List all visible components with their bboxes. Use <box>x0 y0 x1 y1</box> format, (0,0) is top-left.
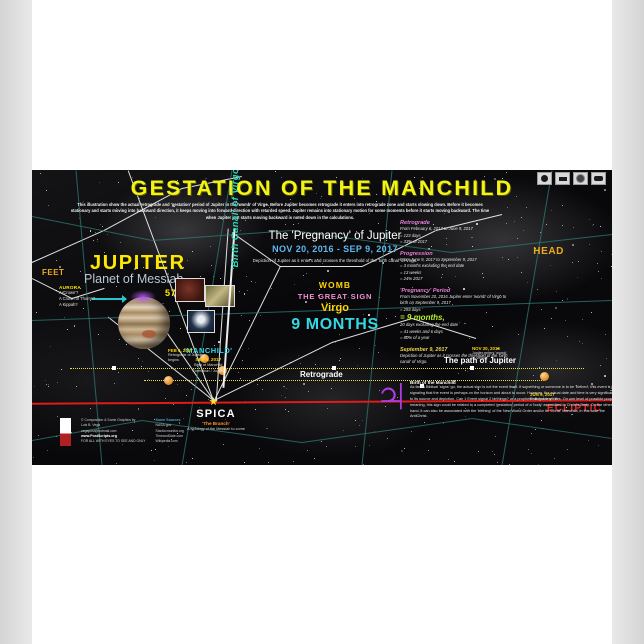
info-block-progression: Progression From June 9, 2017 to Septemb… <box>400 251 512 283</box>
path-note-nov20: NOV 20, 2016 Jupiter enters 'womb' of Vi… <box>472 346 507 362</box>
great-sign-label: THE GREAT SIGN <box>260 292 410 301</box>
poster-intro-text: This illustration show the actual retrog… <box>70 202 490 221</box>
birth-body: As far as Biblical 'signs' go, the actua… <box>410 385 612 420</box>
birth-of-manchild-block: Birth of the Manchild As far as Biblical… <box>410 380 612 420</box>
poster-title: GESTATION OF THE MANCHILD <box>32 176 612 201</box>
info-block-retrograde: Retrograde From February 6, 2017 to June… <box>400 220 512 246</box>
retrograde-path-label: Retrograde <box>300 370 343 379</box>
poster-artwork: ECLIPTIC Retrograde The path of Jupiter … <box>32 170 612 465</box>
credits-author-column: © Composition & Some Graphics by Luis B.… <box>81 418 146 446</box>
manchild-text: Birth of Manchild Formation / Jupiter <box>184 363 233 374</box>
info-lines: From February 6, 2017 to June 9, 2017 = … <box>400 226 512 246</box>
info-lines: From June 9, 2017 to September 9, 2017 =… <box>400 257 512 283</box>
path-marker <box>112 366 116 370</box>
info-tail: = 41 weeks and 6 days = 80% of a year <box>400 329 512 342</box>
circle-icon[interactable] <box>537 172 552 185</box>
credits-block: © Composition & Some Graphics by Luis B.… <box>60 418 184 446</box>
head-label: HEAD <box>533 246 564 257</box>
path-note-feb6: FEB 6, 2017 Retrograde of Jupiter begins <box>168 348 203 364</box>
info-block-pregnancy-period: 'Pregnancy' Period From November 20, 201… <box>400 288 512 342</box>
great-red-spot <box>142 330 156 338</box>
nine-months-label: 9 MONTHS <box>260 316 410 334</box>
pregnancy-heading: The 'Pregnancy' of Jupiter <box>250 230 420 242</box>
poster-page: ECLIPTIC Retrograde The path of Jupiter … <box>0 0 644 644</box>
icon-strip <box>537 172 606 185</box>
page-gutter-left <box>0 0 32 644</box>
rectangle-icon[interactable] <box>555 172 570 185</box>
sources-list: NASA.gov StarArcmonitor.org TimeandDate.… <box>156 423 184 444</box>
aurora-callout: AURORA A 'Crown'? A Crown of Thorns? A K… <box>59 285 109 308</box>
path-note-text: Jupiter enters 'womb' of Virgo <box>472 351 507 362</box>
jupiter-astrological-glyph-icon: ♃ <box>372 370 411 422</box>
crown-photo <box>175 278 205 302</box>
aurora-glow <box>130 290 156 304</box>
kippah-photo <box>187 310 215 333</box>
womb-block: WOMB THE GREAT SIGN Virgo 9 MONTHS <box>260 280 410 334</box>
womb-label: WOMB <box>260 280 410 290</box>
postscripts-logo <box>60 418 71 446</box>
pregnancy-dates: NOV 20, 2016 - SEP 9, 2017 <box>250 244 420 254</box>
display-icon[interactable] <box>591 172 606 185</box>
credits-sources-column: Some Sources NASA.gov StarArcmonitor.org… <box>156 418 184 446</box>
info-big-value: = 9 months, <box>400 313 512 322</box>
target-icon[interactable] <box>573 172 588 185</box>
page-gutter-right <box>612 0 644 644</box>
aurora-lines: A 'Crown'? A Crown of Thorns? A Kippah? <box>59 290 109 308</box>
jupiter-planet <box>118 297 170 349</box>
path-note-text: Retrograde of Jupiter begins <box>168 353 203 364</box>
pregnancy-block: The 'Pregnancy' of Jupiter NOV 20, 2016 … <box>250 230 420 264</box>
feet-label: FEET <box>42 268 64 277</box>
jupiter-subtitle: Planet of Messiah <box>84 272 183 286</box>
info-lines: From November 20, 2016 Jupiter enter 'wo… <box>400 294 512 307</box>
pregnancy-note: Depiction of Jupiter as it enters and cr… <box>250 257 420 264</box>
credits-note: FOR ALL WITH EYES TO SEE AND ONLY <box>81 439 146 444</box>
virgo-label: Virgo <box>260 302 410 314</box>
jupiter-position-marker <box>164 376 173 385</box>
birth-canal-label: 'Birth Canal' of Virgo <box>230 170 241 270</box>
